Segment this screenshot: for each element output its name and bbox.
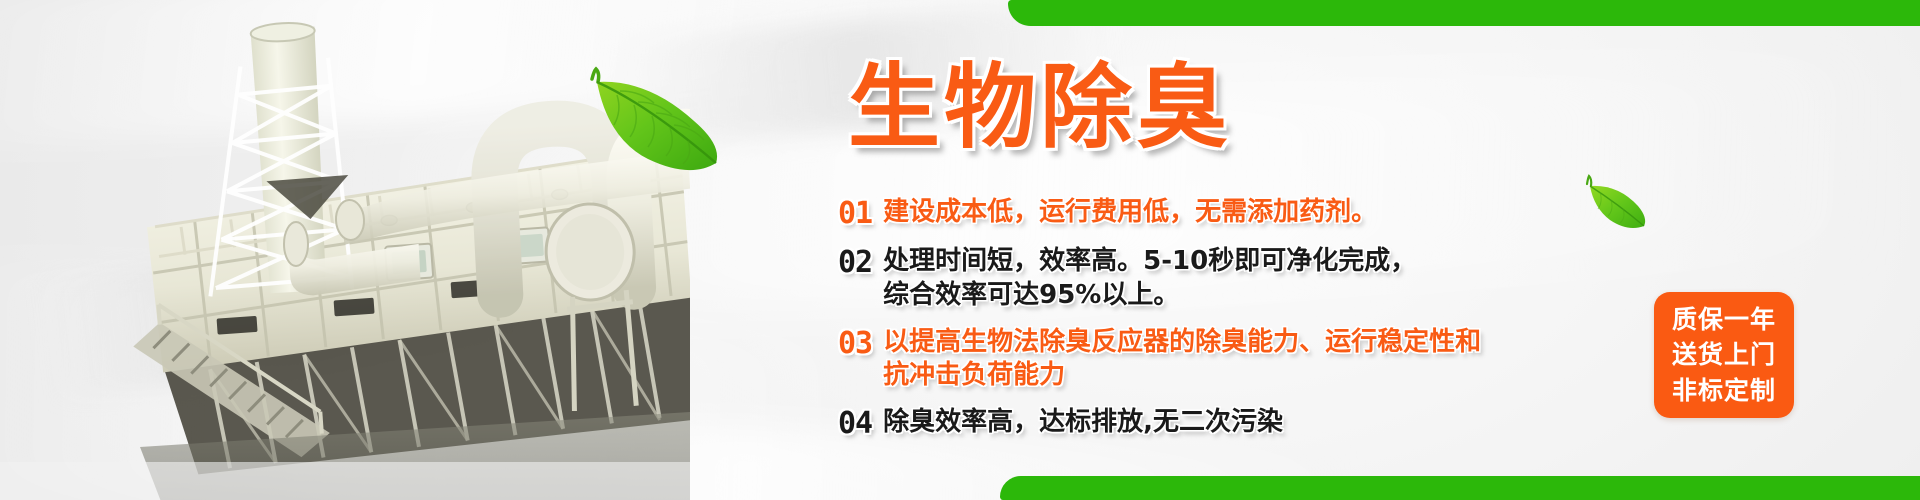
feature-number: 02 <box>838 245 872 280</box>
feature-text: 以提高生物法除臭反应器的除臭能力、运行稳定性和 抗冲击负荷能力 <box>883 326 1481 393</box>
promo-banner: 生物除臭 01 建设成本低，运行费用低，无需添加药剂。 02 处理时间短，效率高… <box>0 0 1920 500</box>
badge-line: 非标定制 <box>1672 373 1776 409</box>
feature-number: 04 <box>838 406 872 441</box>
list-item: 04 除臭效率高，达标排放,无二次污染 <box>838 406 1638 441</box>
feature-number: 03 <box>838 326 872 361</box>
feature-text: 处理时间短，效率高。5-10秒即可净化完成， 综合效率可达95%以上。 <box>883 245 1416 312</box>
feature-list: 01 建设成本低，运行费用低，无需添加药剂。 02 处理时间短，效率高。5-10… <box>838 196 1638 456</box>
list-item: 02 处理时间短，效率高。5-10秒即可净化完成， 综合效率可达95%以上。 <box>838 245 1638 312</box>
status-badge: 质保一年 送货上门 非标定制 <box>1654 292 1794 418</box>
feature-number: 01 <box>838 196 872 231</box>
badge-line: 送货上门 <box>1672 337 1776 373</box>
banner-content: 生物除臭 01 建设成本低，运行费用低，无需添加药剂。 02 处理时间短，效率高… <box>838 0 1638 500</box>
badge-line: 质保一年 <box>1672 302 1776 338</box>
list-item: 03 以提高生物法除臭反应器的除臭能力、运行稳定性和 抗冲击负荷能力 <box>838 326 1638 393</box>
list-item: 01 建设成本低，运行费用低，无需添加药剂。 <box>838 196 1638 231</box>
feature-text: 除臭效率高，达标排放,无二次污染 <box>883 406 1283 439</box>
page-title: 生物除臭 <box>848 62 1232 154</box>
feature-text: 建设成本低，运行费用低，无需添加药剂。 <box>883 196 1377 229</box>
leaf-icon <box>570 55 740 195</box>
